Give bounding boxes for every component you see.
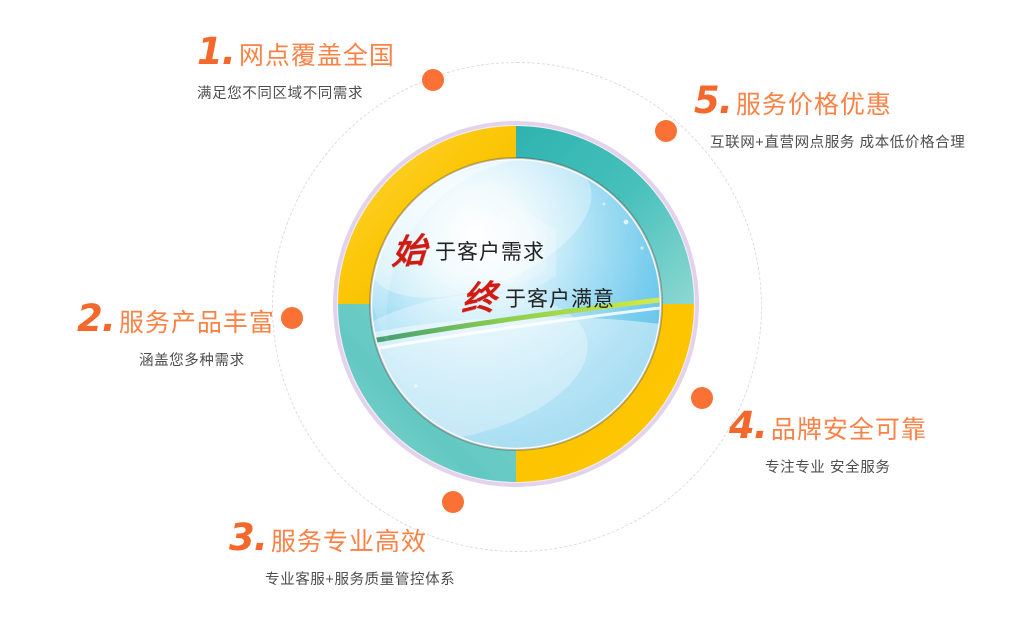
callout-item-2[interactable]: 2. 服务产品丰富 涵盖您多种需求: [77, 300, 275, 370]
callout-headline: 2. 服务产品丰富: [77, 300, 275, 337]
callout-subtitle-4: 专注专业 安全服务: [765, 456, 927, 477]
connector-dot-4: [691, 387, 713, 409]
connector-dot-5: [655, 120, 677, 142]
callout-subtitle-2: 涵盖您多种需求: [139, 349, 275, 370]
callout-item-1[interactable]: 1. 网点覆盖全国 满足您不同区域不同需求: [197, 33, 395, 103]
callout-number-4: 4.: [729, 407, 767, 444]
callout-item-4[interactable]: 4. 品牌安全可靠 专注专业 安全服务: [729, 407, 927, 477]
callout-item-5[interactable]: 5. 服务价格优惠 互联网+直营网点服务 成本低价格合理: [694, 82, 965, 152]
callout-title-4: 品牌安全可靠: [771, 418, 927, 443]
callout-subtitle-3: 专业客服+服务质量管控体系: [265, 568, 455, 589]
donut-ring-graphic: 始 于客户需求 终 于客户满意: [330, 118, 702, 490]
callout-title-5: 服务价格优惠: [736, 93, 892, 118]
callout-subtitle-1: 满足您不同区域不同需求: [197, 82, 395, 103]
callout-title-1: 网点覆盖全国: [239, 44, 395, 69]
callout-number-2: 2.: [77, 300, 115, 337]
callout-headline: 5. 服务价格优惠: [694, 82, 965, 119]
callout-headline: 3. 服务专业高效: [229, 519, 455, 556]
connector-dot-1: [422, 69, 444, 91]
callout-subtitle-5: 互联网+直营网点服务 成本低价格合理: [710, 131, 965, 152]
callout-title-2: 服务产品丰富: [119, 311, 275, 336]
callout-item-3[interactable]: 3. 服务专业高效 专业客服+服务质量管控体系: [229, 519, 455, 589]
connector-dot-3: [442, 491, 464, 513]
callout-headline: 4. 品牌安全可靠: [729, 407, 927, 444]
callout-number-1: 1.: [197, 33, 235, 70]
callout-headline: 1. 网点覆盖全国: [197, 33, 395, 70]
callout-title-3: 服务专业高效: [271, 530, 427, 555]
callout-number-3: 3.: [229, 519, 267, 556]
connector-dot-2: [281, 307, 303, 329]
infographic-canvas: 始 于客户需求 终 于客户满意 1. 网点覆盖全国 满足您不同区域不同需求 5.…: [0, 0, 1034, 625]
callout-number-5: 5.: [694, 82, 732, 119]
